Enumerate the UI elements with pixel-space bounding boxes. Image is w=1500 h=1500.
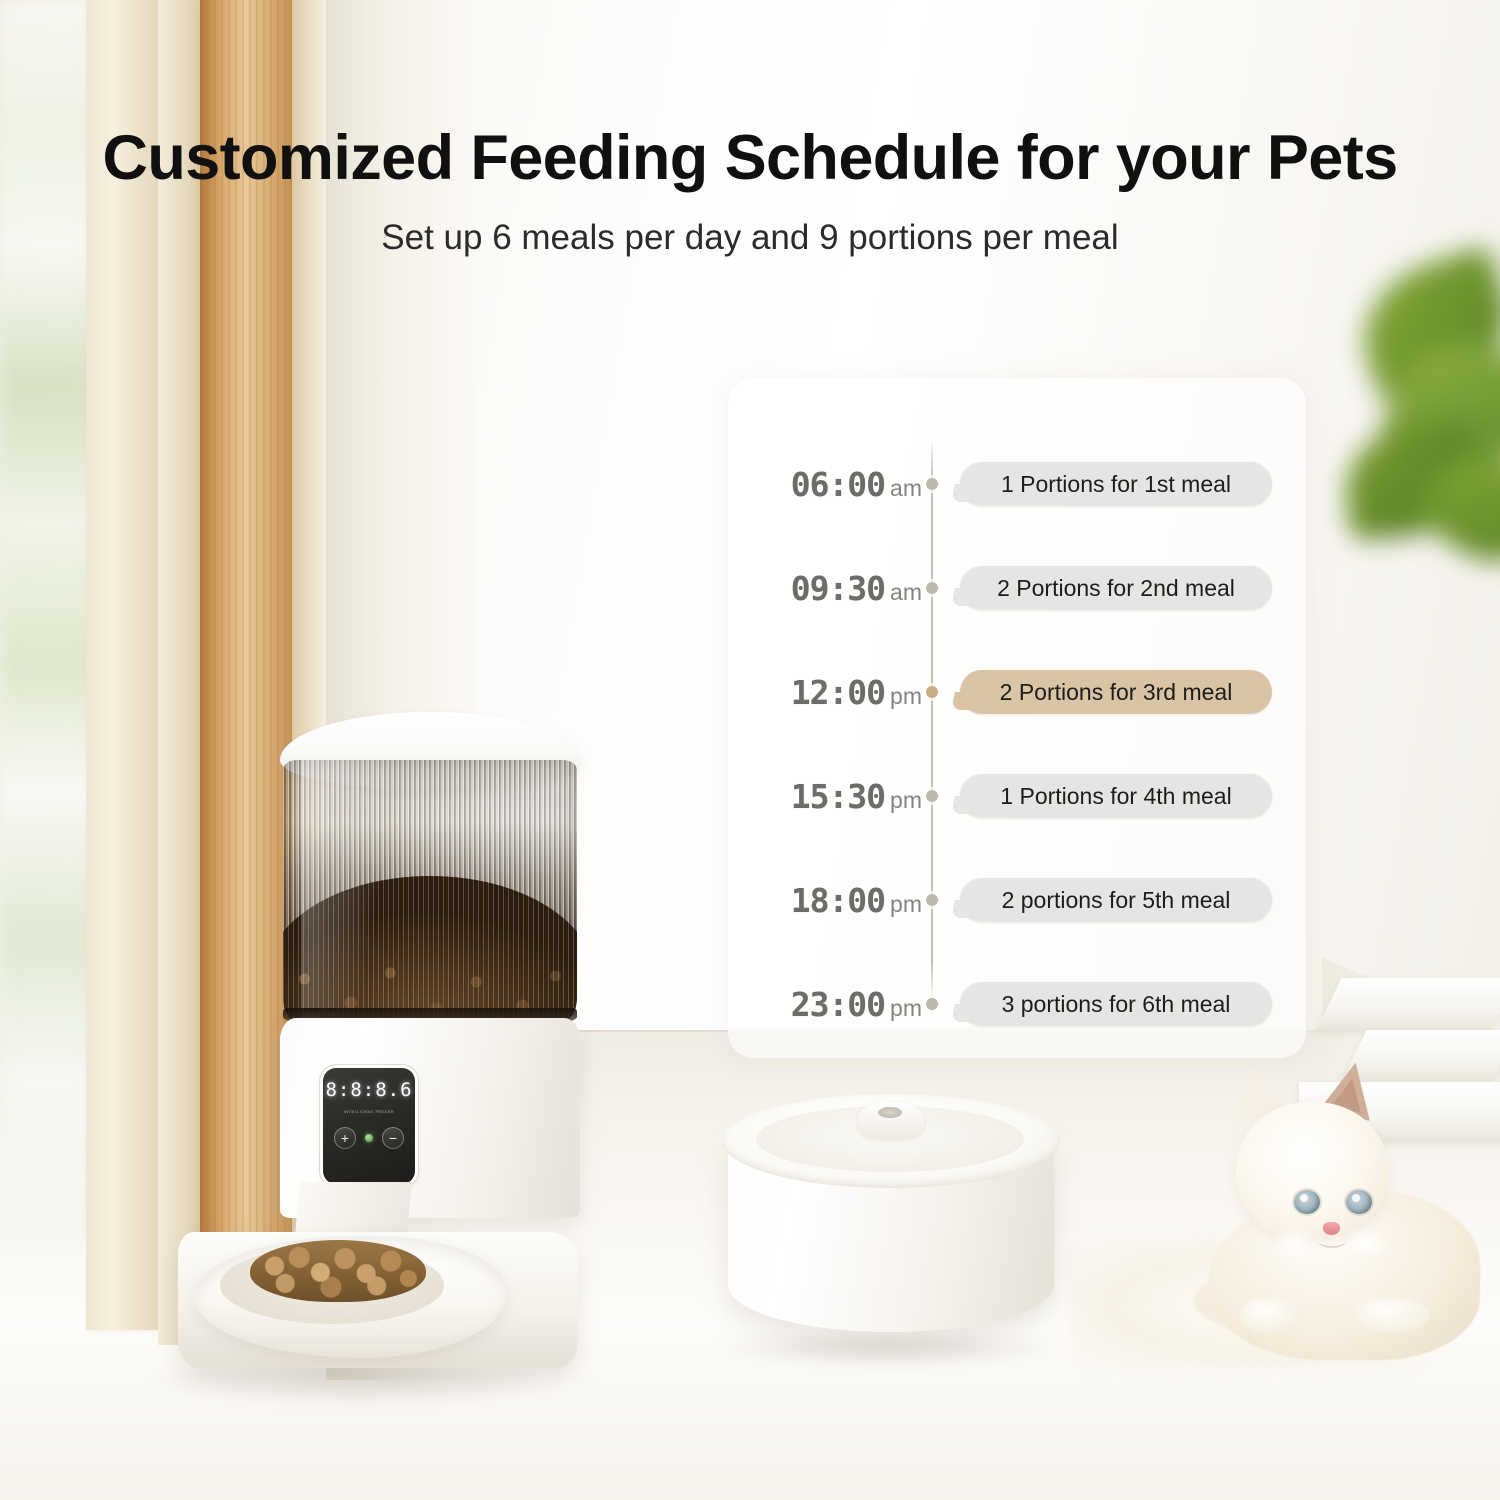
schedule-row: 12:00 pm 2 Portions for 3rd meal bbox=[728, 660, 1306, 724]
automatic-pet-feeder: 8:8:8.6 INTELLIGENT FEEDER + − bbox=[178, 712, 698, 1402]
time-meridiem: pm bbox=[890, 995, 922, 1022]
cat-eye-right bbox=[1346, 1190, 1372, 1214]
timeline-dot bbox=[926, 998, 938, 1010]
hopper-glass-highlight bbox=[301, 760, 401, 1022]
schedule-row: 15:30 pm 1 Portions for 4th meal bbox=[728, 764, 1306, 828]
cat-paw-left bbox=[1240, 1298, 1302, 1332]
portion-pill[interactable]: 2 portions for 5th meal bbox=[960, 878, 1272, 922]
bowl-kibble bbox=[250, 1240, 426, 1302]
schedule-time: 15:30 pm bbox=[728, 777, 928, 816]
cat-cheek-right bbox=[1344, 1226, 1390, 1260]
schedule-time: 06:00 am bbox=[728, 465, 928, 504]
schedule-row: 06:00 am 1 Portions for 1st meal bbox=[728, 452, 1306, 516]
schedule-row: 18:00 pm 2 portions for 5th meal bbox=[728, 868, 1306, 932]
minus-button[interactable]: − bbox=[382, 1127, 404, 1149]
portion-pill[interactable]: 3 portions for 6th meal bbox=[960, 982, 1272, 1026]
cat-cheek-left bbox=[1272, 1226, 1318, 1260]
time-meridiem: am bbox=[890, 579, 922, 606]
time-meridiem: pm bbox=[890, 683, 922, 710]
led-display-label: INTELLIGENT FEEDER bbox=[344, 1109, 394, 1114]
window-frame-inner-panel bbox=[86, 0, 164, 1330]
cat-head bbox=[1236, 1102, 1388, 1240]
time-meridiem: am bbox=[890, 475, 922, 502]
page-subtitle: Set up 6 meals per day and 9 portions pe… bbox=[0, 218, 1500, 258]
page-title: Customized Feeding Schedule for your Pet… bbox=[0, 122, 1500, 194]
schedule-time: 09:30 am bbox=[728, 569, 928, 608]
schedule-row: 09:30 am 2 Portions for 2nd meal bbox=[728, 556, 1306, 620]
time-digits: 23:00 bbox=[791, 985, 885, 1024]
fountain-ground-shadow bbox=[708, 1328, 1068, 1368]
panel-button-group: + − bbox=[334, 1127, 404, 1149]
fountain-spout-opening bbox=[878, 1107, 902, 1118]
time-meridiem: pm bbox=[890, 787, 922, 814]
ragdoll-cat bbox=[1208, 1060, 1500, 1360]
schedule-time: 18:00 pm bbox=[728, 881, 928, 920]
pet-water-fountain bbox=[722, 1082, 1062, 1352]
feeding-schedule-card: 06:00 am 1 Portions for 1st meal 09:30 a… bbox=[728, 378, 1306, 1058]
portion-pill[interactable]: 1 Portions for 1st meal bbox=[960, 462, 1272, 506]
timeline-dot bbox=[926, 790, 938, 802]
led-display: 8:8:8.6 bbox=[325, 1081, 412, 1100]
feeder-control-panel[interactable]: 8:8:8.6 INTELLIGENT FEEDER + − bbox=[323, 1068, 415, 1184]
portion-pill-active[interactable]: 2 Portions for 3rd meal bbox=[960, 670, 1272, 714]
time-meridiem: pm bbox=[890, 891, 922, 918]
time-digits: 15:30 bbox=[791, 777, 885, 816]
timeline-dot bbox=[926, 478, 938, 490]
cat-eye-left bbox=[1294, 1190, 1320, 1214]
schedule-row: 23:00 pm 3 portions for 6th meal bbox=[728, 972, 1306, 1036]
time-digits: 06:00 bbox=[791, 465, 885, 504]
timeline-dot bbox=[926, 894, 938, 906]
schedule-time: 12:00 pm bbox=[728, 673, 928, 712]
stair-step bbox=[1316, 978, 1500, 1030]
time-digits: 18:00 bbox=[791, 881, 885, 920]
product-marketing-image: 8:8:8.6 INTELLIGENT FEEDER + − Customize… bbox=[0, 0, 1500, 1500]
cat-mouth bbox=[1318, 1234, 1346, 1248]
status-led-icon bbox=[365, 1134, 373, 1142]
timeline-dot-active bbox=[926, 686, 938, 698]
portion-pill[interactable]: 1 Portions for 4th meal bbox=[960, 774, 1272, 818]
time-digits: 09:30 bbox=[791, 569, 885, 608]
schedule-time: 23:00 pm bbox=[728, 985, 928, 1024]
cat-paw-right bbox=[1356, 1298, 1430, 1332]
plus-button[interactable]: + bbox=[334, 1127, 356, 1149]
time-digits: 12:00 bbox=[791, 673, 885, 712]
portion-pill[interactable]: 2 Portions for 2nd meal bbox=[960, 566, 1272, 610]
timeline-dot bbox=[926, 582, 938, 594]
feeder-food-hopper bbox=[283, 760, 577, 1022]
houseplant-blurred bbox=[1300, 255, 1500, 595]
